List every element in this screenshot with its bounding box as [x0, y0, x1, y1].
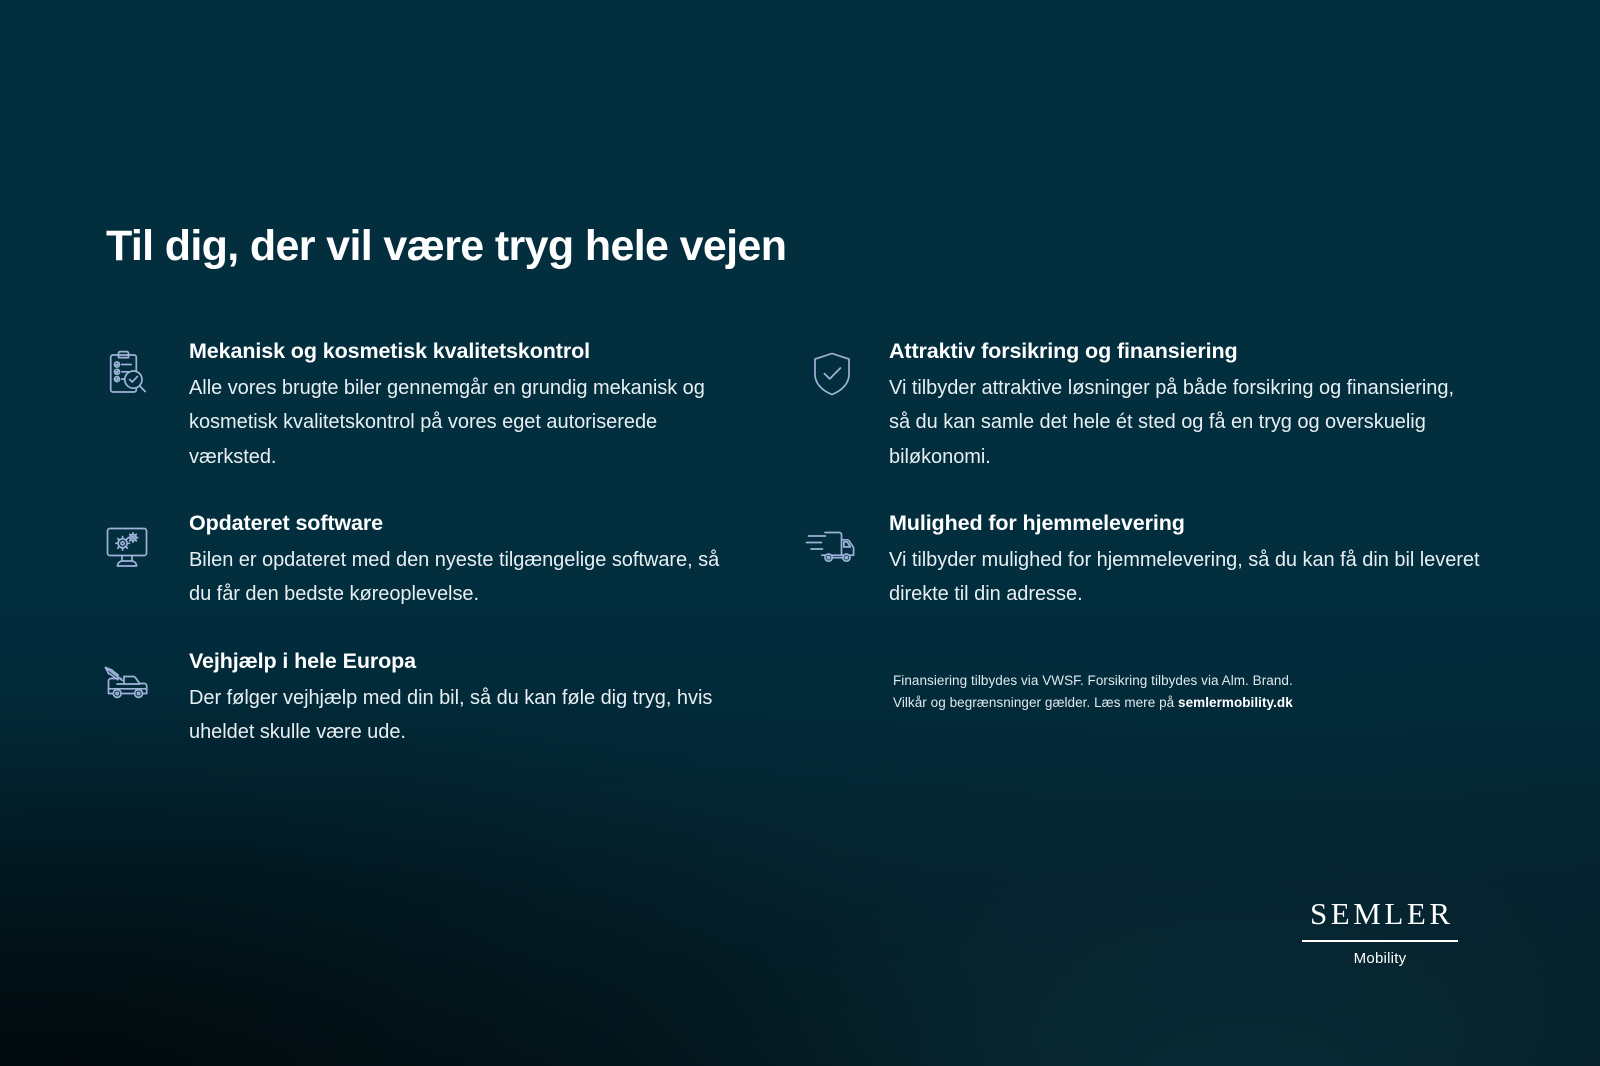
feature-title: Attraktiv forsikring og finansiering: [889, 338, 1480, 365]
semlermobility-link[interactable]: semlermobility.dk: [1178, 695, 1293, 710]
feature-title: Mulighed for hjemmelevering: [889, 510, 1480, 537]
feature-title: Mekanisk og kosmetisk kvalitetskontrol: [189, 338, 740, 365]
legal-disclaimer: Finansiering tilbydes via VWSF. Forsikri…: [893, 670, 1423, 715]
content-area: Til dig, der vil være tryg hele vejen: [0, 0, 1600, 1066]
logo-divider: [1302, 940, 1458, 942]
feature-item-hjemmelevering: Mulighed for hjemmelevering Vi tilbyder …: [800, 510, 1480, 612]
disclaimer-line-1: Finansiering tilbydes via VWSF. Forsikri…: [893, 670, 1423, 692]
feature-item-forsikring: Attraktiv forsikring og finansiering Vi …: [800, 338, 1480, 474]
disclaimer-line-2: Vilkår og begrænsninger gælder. Læs mere…: [893, 692, 1423, 714]
promo-banner: Til dig, der vil være tryg hele vejen: [0, 0, 1600, 1066]
tow-truck-icon: [100, 657, 154, 711]
feature-body: Alle vores brugte biler gennemgår en gru…: [189, 371, 740, 474]
feature-title: Opdateret software: [189, 510, 740, 537]
logo-subtitle: Mobility: [1302, 950, 1458, 967]
page-title: Til dig, der vil være tryg hele vejen: [106, 222, 786, 271]
feature-item-vejhjaelp: Vejhjælp i hele Europa Der følger vejhjæ…: [100, 648, 740, 750]
feature-column-right: Attraktiv forsikring og finansiering Vi …: [800, 338, 1480, 612]
feature-body: Bilen er opdateret med den nyeste tilgæn…: [189, 543, 740, 612]
logo-wordmark: SEMLER: [1302, 898, 1458, 931]
feature-item-kvalitetskontrol: Mekanisk og kosmetisk kvalitetskontrol A…: [100, 338, 740, 474]
feature-column-left: Mekanisk og kosmetisk kvalitetskontrol A…: [100, 338, 740, 749]
semler-mobility-logo: SEMLER Mobility: [1302, 898, 1458, 967]
feature-body: Der følger vejhjælp med din bil, så du k…: [189, 681, 740, 750]
shield-check-icon: [805, 347, 859, 401]
disclaimer-line-2-text: Vilkår og begrænsninger gælder. Læs mere…: [893, 695, 1178, 710]
monitor-gears-icon: [100, 519, 154, 573]
feature-title: Vejhjælp i hele Europa: [189, 648, 740, 675]
clipboard-checklist-magnifier-icon: [100, 347, 154, 401]
delivery-truck-icon: [805, 519, 859, 573]
feature-body: Vi tilbyder mulighed for hjemmelevering,…: [889, 543, 1480, 612]
feature-body: Vi tilbyder attraktive løsninger på både…: [889, 371, 1480, 474]
feature-item-software: Opdateret software Bilen er opdateret me…: [100, 510, 740, 612]
